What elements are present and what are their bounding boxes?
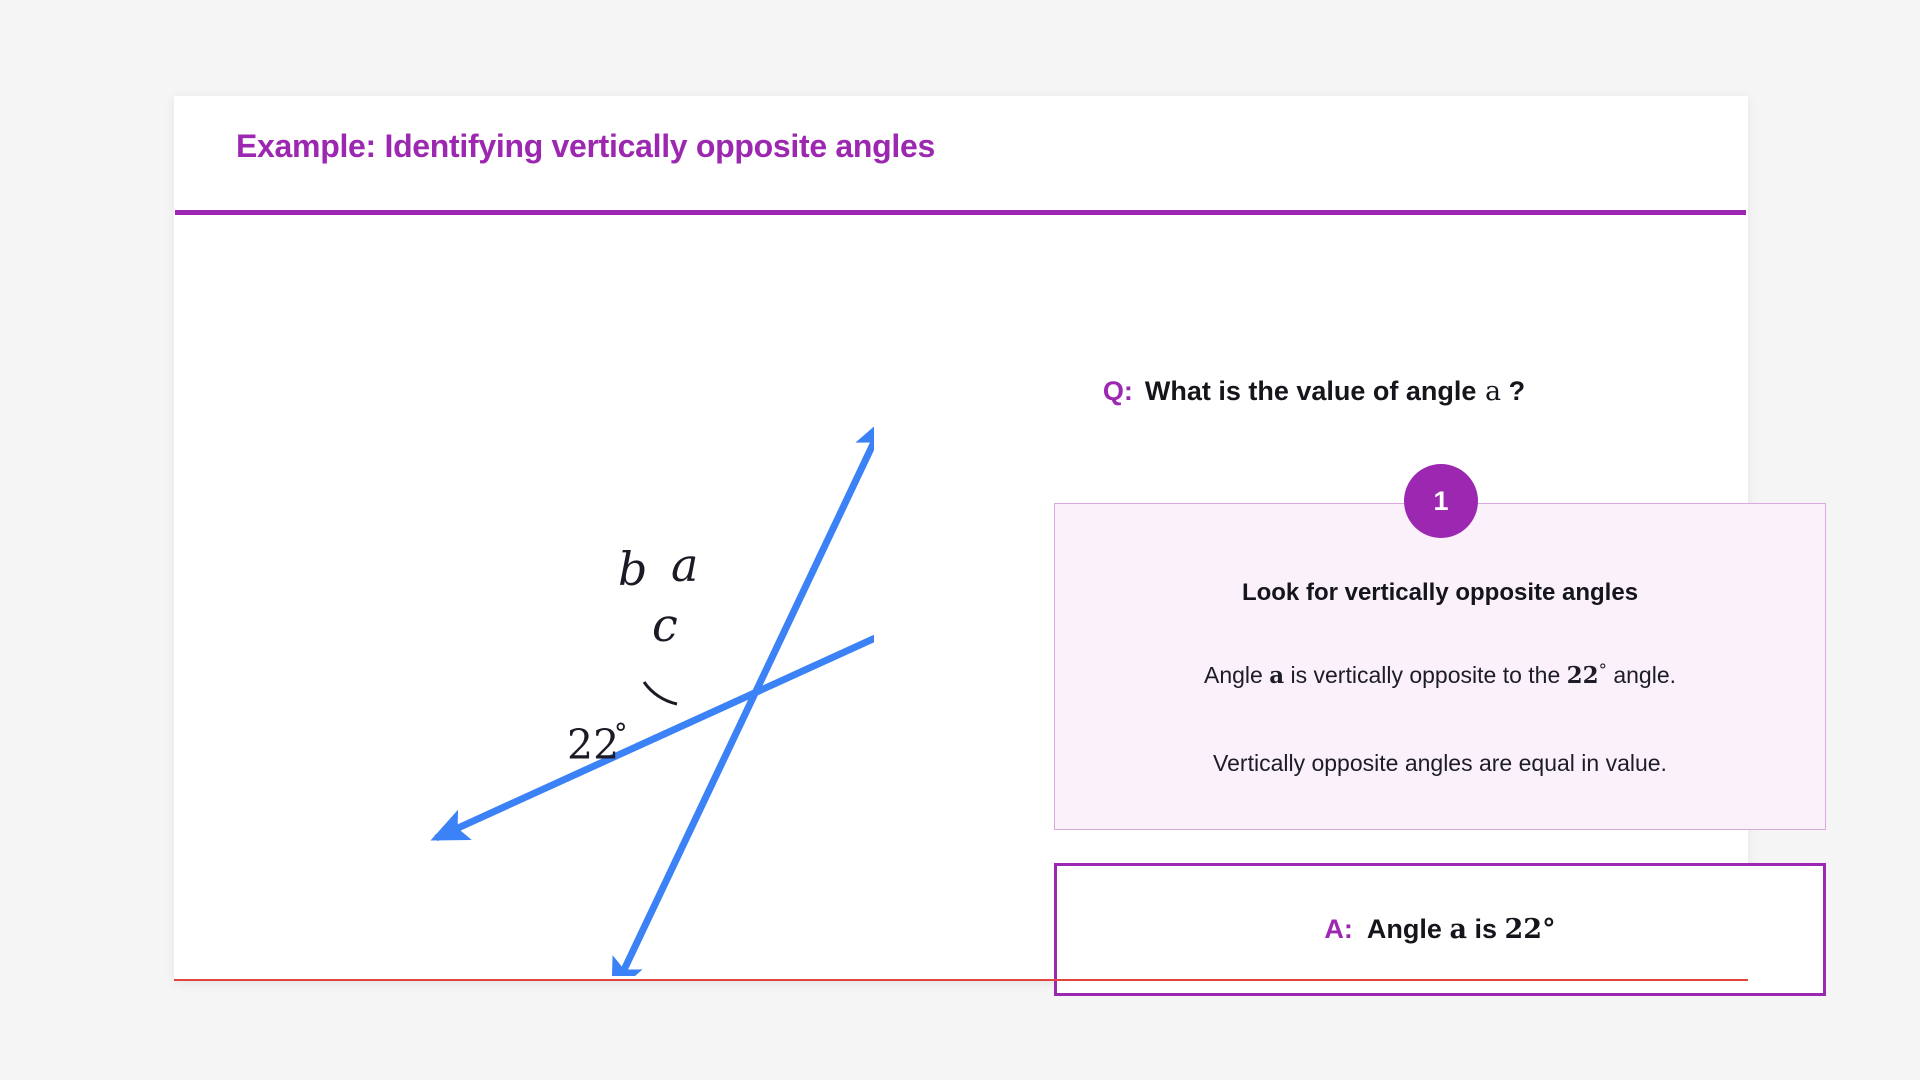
step-card-1: Look for vertically opposite angles Angl… bbox=[1054, 503, 1826, 830]
step-line1-degree-symbol: ° bbox=[1599, 661, 1607, 680]
answer-degree-symbol: ° bbox=[1542, 914, 1556, 945]
diagram-angle-degree-symbol: ° bbox=[614, 719, 628, 750]
diagram-angle-value: 22 bbox=[567, 721, 619, 769]
answer-text-before: Angle bbox=[1367, 914, 1442, 945]
answer-tag: A: bbox=[1324, 914, 1353, 945]
diagram-label-a: a bbox=[671, 538, 698, 592]
diagram-label-22-degrees: 22 ° bbox=[567, 719, 628, 769]
step-explanation-line-1: Angle a is vertically opposite to the 22… bbox=[1055, 661, 1825, 689]
step-line1-part3: angle. bbox=[1613, 662, 1676, 688]
answer-value: 22 bbox=[1505, 914, 1543, 945]
title-divider bbox=[175, 210, 1746, 215]
diagram-svg: upper-right --> upper-right --> b a c 22… bbox=[174, 226, 874, 976]
question-row: Q:What is the value of angle a ? bbox=[880, 376, 1748, 407]
step-line1-variable: a bbox=[1269, 662, 1284, 689]
diagram-label-c: c bbox=[652, 598, 678, 652]
answer-text-mid: is bbox=[1474, 914, 1497, 945]
question-text: What is the value of angle bbox=[1145, 376, 1477, 406]
step-heading: Look for vertically opposite angles bbox=[1055, 579, 1825, 607]
step-line1-part2: is vertically opposite to the bbox=[1291, 662, 1561, 688]
step-badge-1: 1 bbox=[1404, 464, 1478, 538]
step-explanation-line-2: Vertically opposite angles are equal in … bbox=[1055, 750, 1825, 777]
solution-pane: Q:What is the value of angle a ? 1 Look … bbox=[880, 226, 1748, 976]
angle-arc-22 bbox=[644, 682, 677, 704]
question-variable: a bbox=[1485, 376, 1501, 407]
diagram-label-b: b bbox=[618, 542, 647, 596]
answer-variable: a bbox=[1449, 914, 1467, 945]
question-tag: Q: bbox=[1103, 376, 1133, 406]
step-line1-part1: Angle bbox=[1204, 662, 1263, 688]
slide-bottom-rule bbox=[174, 979, 1748, 981]
slide-card: Example: Identifying vertically opposite… bbox=[174, 96, 1748, 981]
page-title: Example: Identifying vertically opposite… bbox=[236, 128, 935, 165]
question-qmark: ? bbox=[1509, 376, 1526, 406]
answer-box: A:Angle a is 22° bbox=[1054, 863, 1826, 996]
geometry-diagram: upper-right --> upper-right --> b a c 22… bbox=[174, 226, 874, 976]
step-line1-value: 22 bbox=[1567, 662, 1599, 689]
